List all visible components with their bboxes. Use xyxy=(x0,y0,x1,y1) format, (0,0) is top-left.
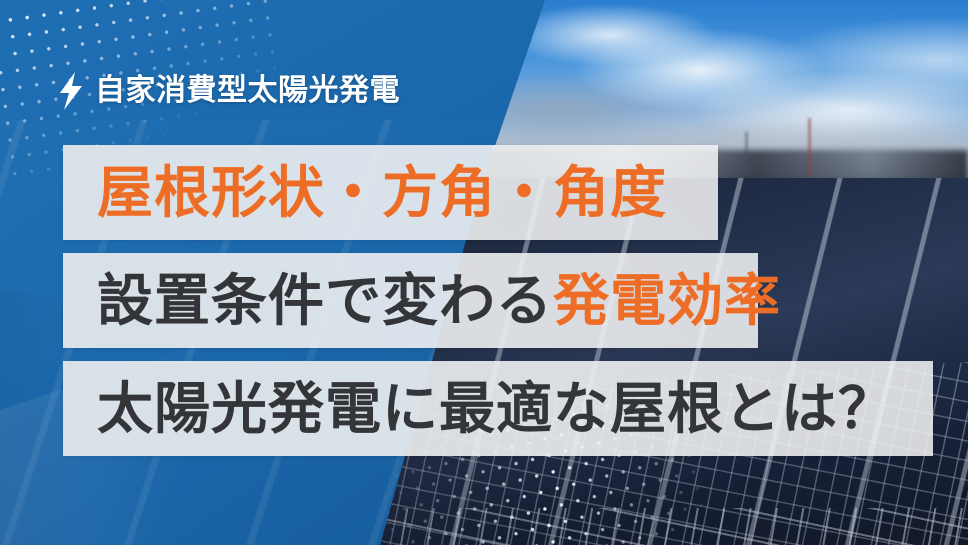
headline-line-2-orange: 発電効率 xyxy=(553,269,781,332)
headline-line-3: 太陽光発電に最適な屋根とは？ xyxy=(97,381,895,437)
headline-line-2-dark: 設置条件で変わる xyxy=(97,269,553,332)
eyebrow-label: 自家消費型太陽光発電 xyxy=(95,76,400,106)
solar-banner: 自家消費型太陽光発電 屋根形状・方角・角度 設置条件で変わる発電効率 太陽光発電… xyxy=(0,0,968,545)
headline-line-2: 設置条件で変わる発電効率 xyxy=(97,273,781,329)
lightning-bolt-icon xyxy=(58,72,84,110)
eyebrow-group: 自家消費型太陽光発電 xyxy=(58,72,400,110)
headline-band-3: 太陽光発電に最適な屋根とは？ xyxy=(63,361,933,456)
headline-line-1: 屋根形状・方角・角度 xyxy=(97,165,667,221)
headline-band-2: 設置条件で変わる発電効率 xyxy=(63,253,758,348)
headline-band-1: 屋根形状・方角・角度 xyxy=(63,145,718,240)
